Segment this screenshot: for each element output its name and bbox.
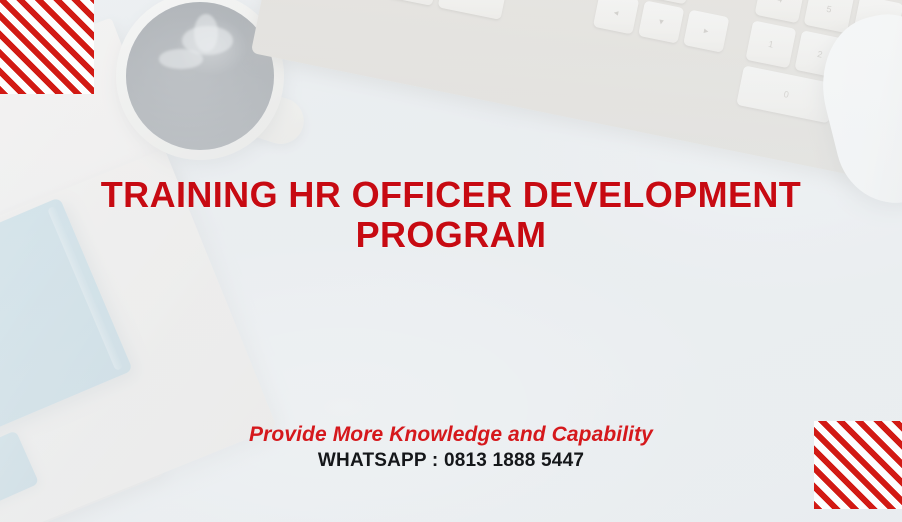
key-label: 1 [748, 35, 793, 54]
contact-whatsapp: WHATSAPP : 0813 1888 5447 [0, 450, 902, 472]
key-numpad-1: 1 [745, 20, 796, 68]
key-label: 4 [758, 0, 803, 9]
coffee-surface [126, 2, 274, 150]
key-label: ◂ [595, 3, 636, 22]
key-label: ▾ [640, 13, 681, 32]
key-arrow-left: ◂ [593, 0, 639, 34]
tagline: Provide More Knowledge and Capability [0, 423, 902, 447]
training-poster: at Home shift [0, 0, 902, 522]
key [387, 0, 440, 6]
page-title: TRAINING HR OFFICER DEVELOPMENT PROGRAM [0, 175, 902, 255]
stripe-block-top-left [0, 0, 94, 94]
key-arrow-down: ▾ [638, 0, 684, 43]
crema-swirl [159, 49, 203, 68]
key-label: 0 [739, 80, 833, 109]
key-label: 5 [807, 0, 852, 18]
key-label: ▸ [686, 22, 727, 41]
key-arrow-right: ▸ [683, 10, 729, 53]
page-title-line-2: PROGRAM [0, 215, 902, 255]
key-numpad-4: 4 [755, 0, 806, 23]
page-title-line-1: TRAINING HR OFFICER DEVELOPMENT [0, 175, 902, 215]
key [438, 0, 509, 20]
crema-swirl [194, 14, 218, 52]
